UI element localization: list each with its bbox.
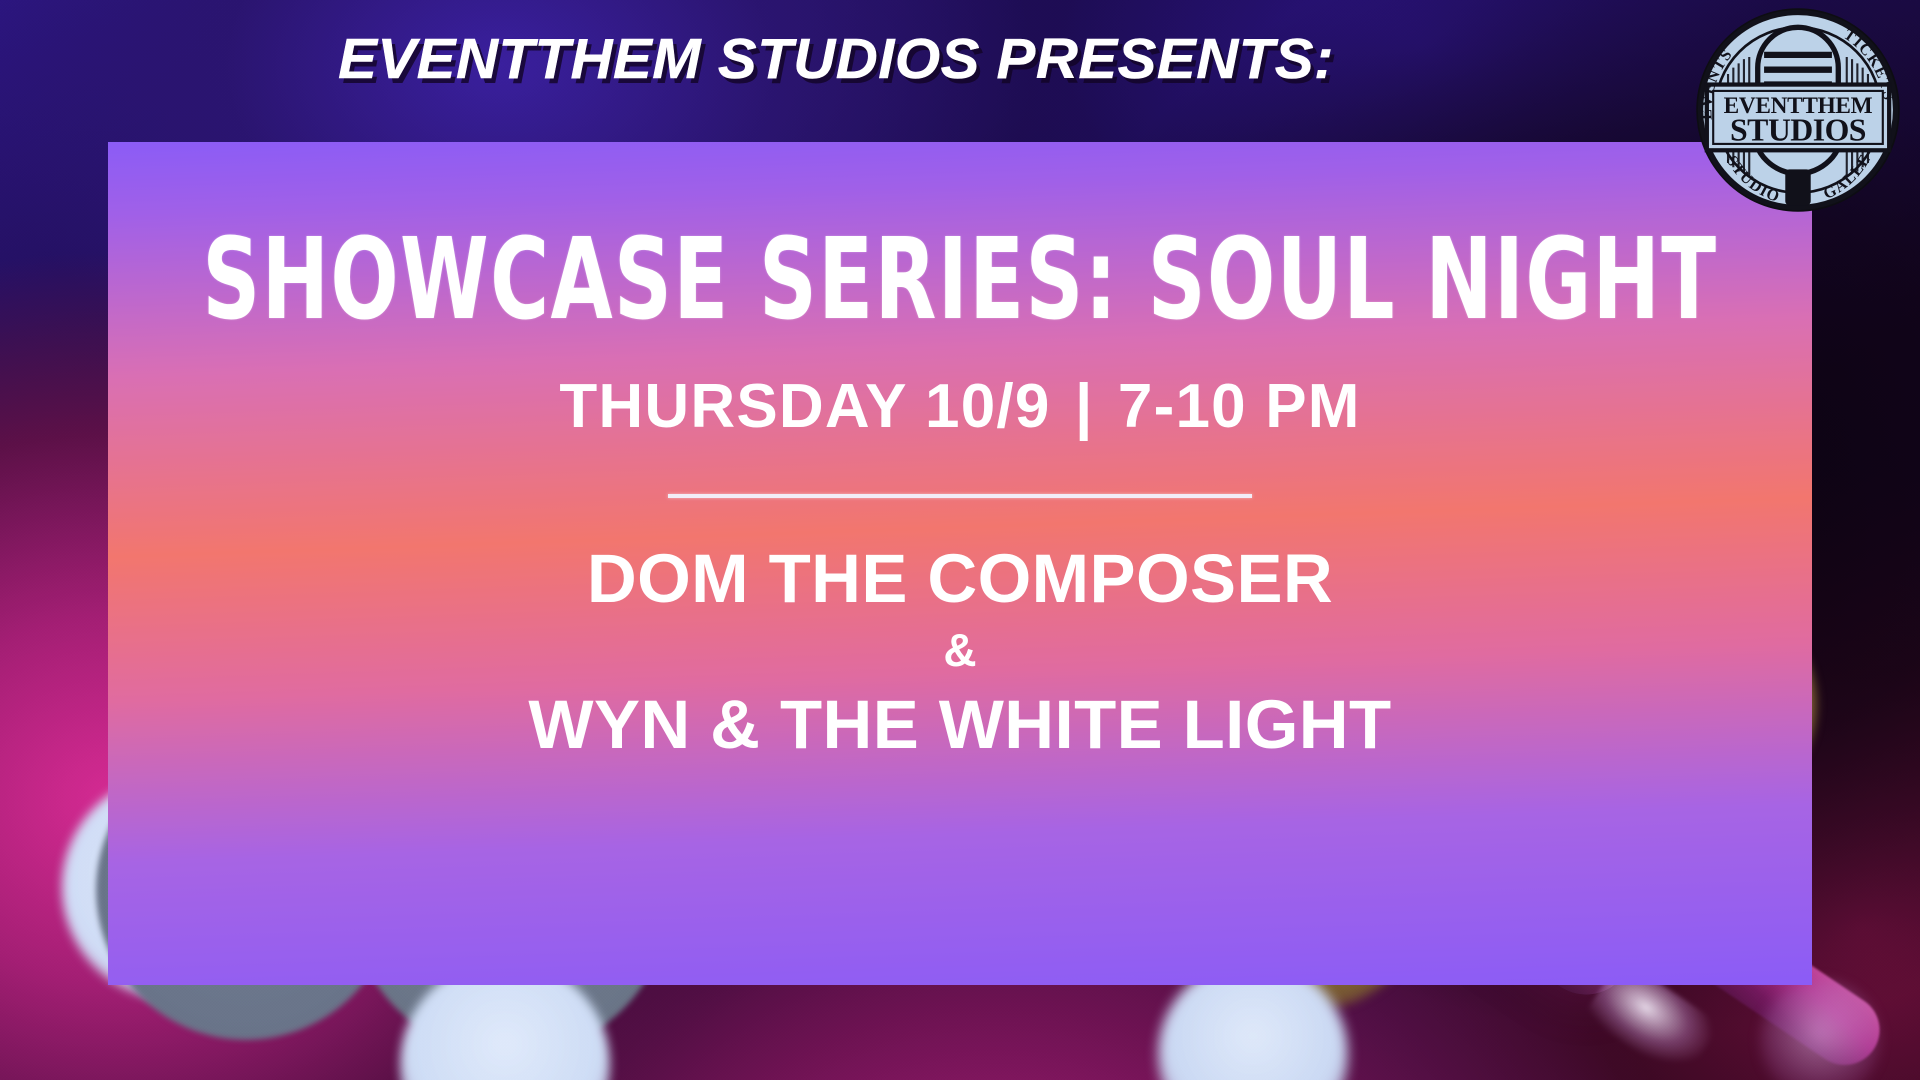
event-time: 7-10 PM	[1118, 372, 1361, 441]
lineup-artist-1: DOM THE COMPOSER	[108, 542, 1812, 616]
divider-rule	[668, 494, 1252, 498]
event-poster: EVENTTHEM STUDIOS PRESENTS:	[0, 0, 1920, 1080]
datetime-separator: |	[1069, 371, 1100, 442]
lineup-list: DOM THE COMPOSER & WYN & THE WHITE LIGHT	[108, 542, 1812, 762]
lineup-artist-2: WYN & THE WHITE LIGHT	[108, 688, 1812, 762]
event-title: SHOWCASE SERIES: SOUL NIGHT	[202, 224, 1717, 336]
poster-content: SHOWCASE SERIES: SOUL NIGHT THURSDAY 10/…	[108, 142, 1812, 985]
event-datetime: THURSDAY 10/9 | 7-10 PM	[559, 371, 1360, 442]
lineup-ampersand: &	[108, 618, 1812, 682]
event-date: THURSDAY 10/9	[559, 372, 1050, 441]
presents-headline: EVENTTHEM STUDIOS PRESENTS:	[0, 26, 1689, 92]
